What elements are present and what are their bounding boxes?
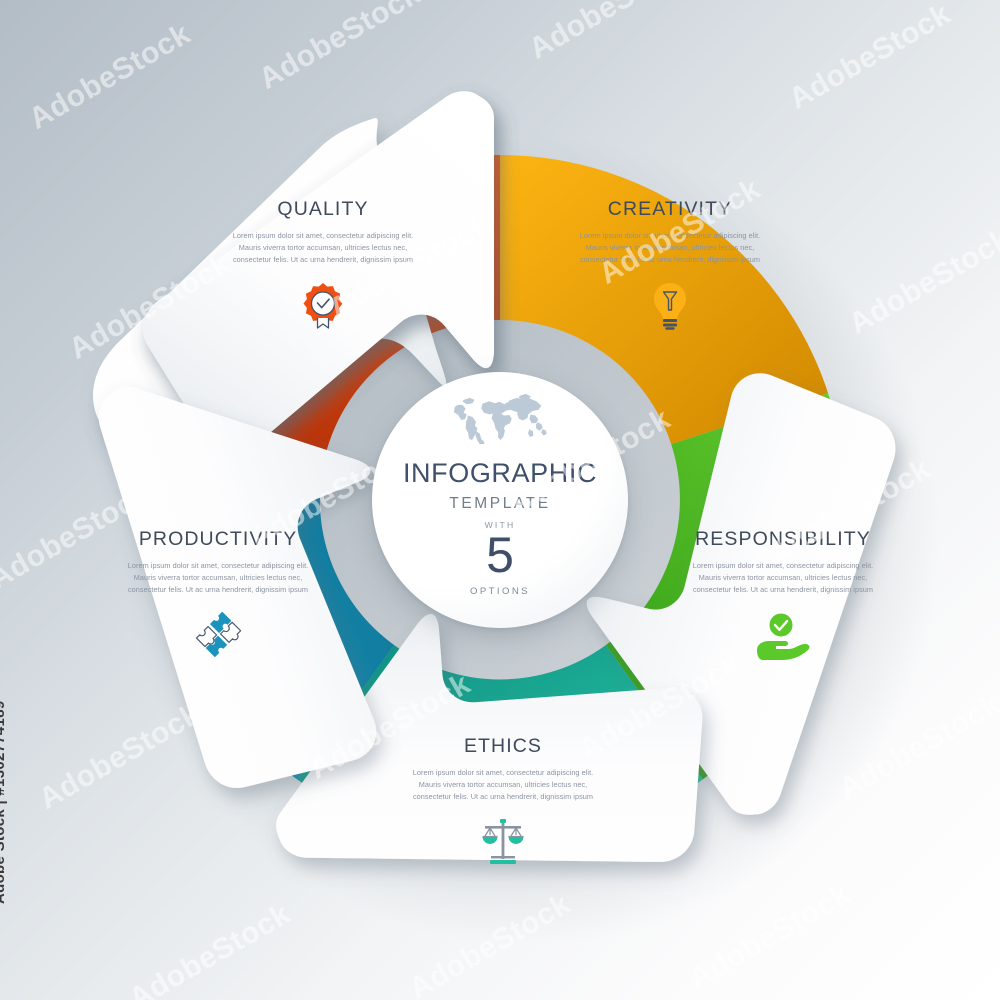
center-hub: INFOGRAPHIC TEMPLATE WITH 5 OPTIONS xyxy=(372,372,628,628)
world-map-icon xyxy=(446,390,554,444)
hub-title: INFOGRAPHIC xyxy=(403,458,597,489)
adobe-stock-id-watermark: Adobe Stock | #1302774189 xyxy=(0,701,8,904)
hub-option-count: 5 xyxy=(486,531,514,580)
hub-options-label: OPTIONS xyxy=(470,586,530,597)
hub-subtitle: TEMPLATE xyxy=(449,495,550,513)
infographic-canvas: INFOGRAPHIC TEMPLATE WITH 5 OPTIONS QUAL… xyxy=(0,0,1000,1000)
